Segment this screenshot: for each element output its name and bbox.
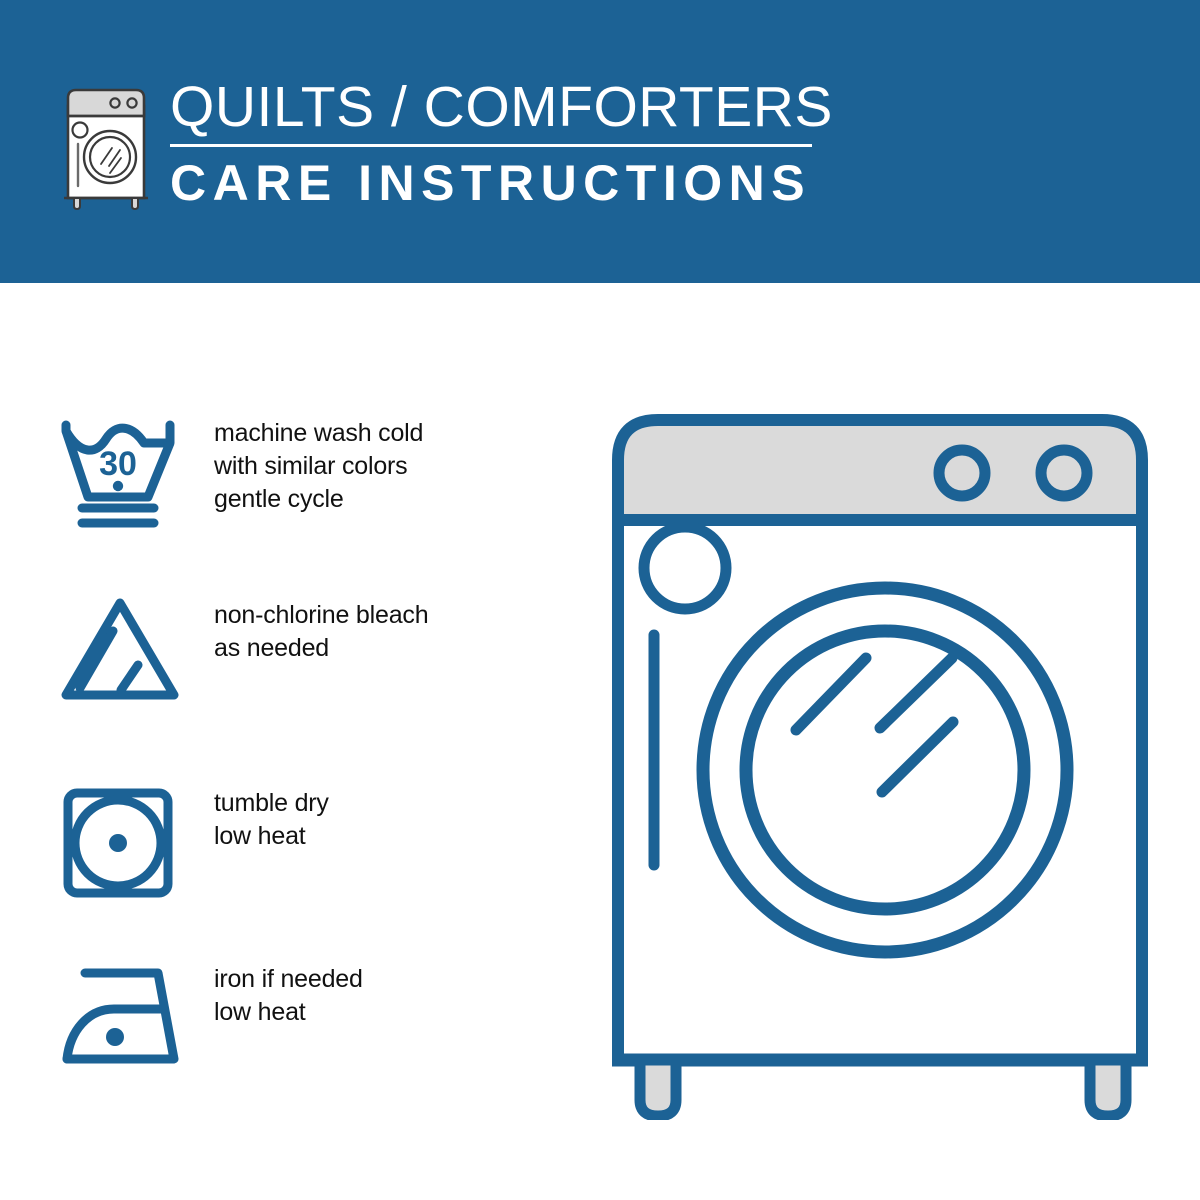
care-label-line: as needed (214, 632, 428, 665)
tumble-dry-low-heat-icon (58, 783, 188, 903)
washer-leg-right (1090, 1060, 1126, 1116)
care-row-machine-wash: 30 machine wash cold with similar colors… (0, 413, 560, 563)
wash-temperature-label: 30 (99, 445, 137, 483)
page-subtitle: CARE INSTRUCTIONS (170, 155, 830, 211)
washer-knob-left (939, 450, 985, 496)
care-label-line: with similar colors (214, 450, 423, 483)
care-label-line: gentle cycle (214, 483, 423, 516)
header-banner: QUILTS / COMFORTERS CARE INSTRUCTIONS (0, 0, 1200, 283)
care-label-tumble-dry: tumble dry low heat (214, 783, 329, 853)
care-label-line: iron if needed (214, 963, 363, 996)
care-label-line: non-chlorine bleach (214, 599, 428, 632)
large-washing-machine-illustration (600, 400, 1160, 1120)
header-divider (170, 144, 812, 147)
care-label-line: low heat (214, 820, 329, 853)
washer-leg-left (640, 1060, 676, 1116)
care-instruction-list: 30 machine wash cold with similar colors… (0, 283, 560, 1200)
page-title: QUILTS / COMFORTERS (170, 76, 830, 138)
care-label-bleach: non-chlorine bleach as needed (214, 595, 428, 665)
care-row-iron: iron if needed low heat (0, 959, 560, 1109)
care-label-line: low heat (214, 996, 363, 1029)
care-label-iron: iron if needed low heat (214, 959, 363, 1029)
non-chlorine-bleach-triangle-icon (58, 595, 188, 715)
washer-dispenser-circle (644, 527, 726, 609)
wash-tub-30-gentle-icon: 30 (58, 413, 188, 533)
washer-knob-right (1041, 450, 1087, 496)
care-label-line: machine wash cold (214, 417, 423, 450)
header-text-block: QUILTS / COMFORTERS CARE INSTRUCTIONS (170, 76, 830, 211)
care-label-line: tumble dry (214, 787, 329, 820)
washing-machine-icon (52, 78, 160, 210)
care-label-machine-wash: machine wash cold with similar colors ge… (214, 413, 423, 516)
iron-low-heat-icon (58, 959, 188, 1079)
care-row-tumble-dry: tumble dry low heat (0, 783, 560, 933)
washer-door-inner-ring (746, 631, 1024, 909)
care-row-bleach: non-chlorine bleach as needed (0, 595, 560, 745)
